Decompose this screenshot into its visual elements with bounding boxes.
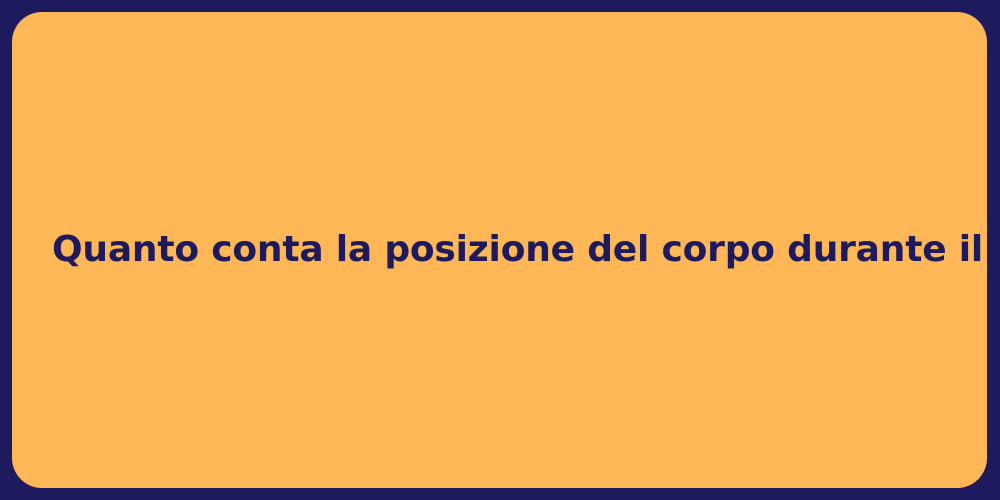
card-panel: Quanto conta la posizione del corpo dura… bbox=[12, 12, 987, 488]
page-title: Quanto conta la posizione del corpo dura… bbox=[12, 229, 987, 271]
card-frame: Quanto conta la posizione del corpo dura… bbox=[0, 0, 1000, 500]
